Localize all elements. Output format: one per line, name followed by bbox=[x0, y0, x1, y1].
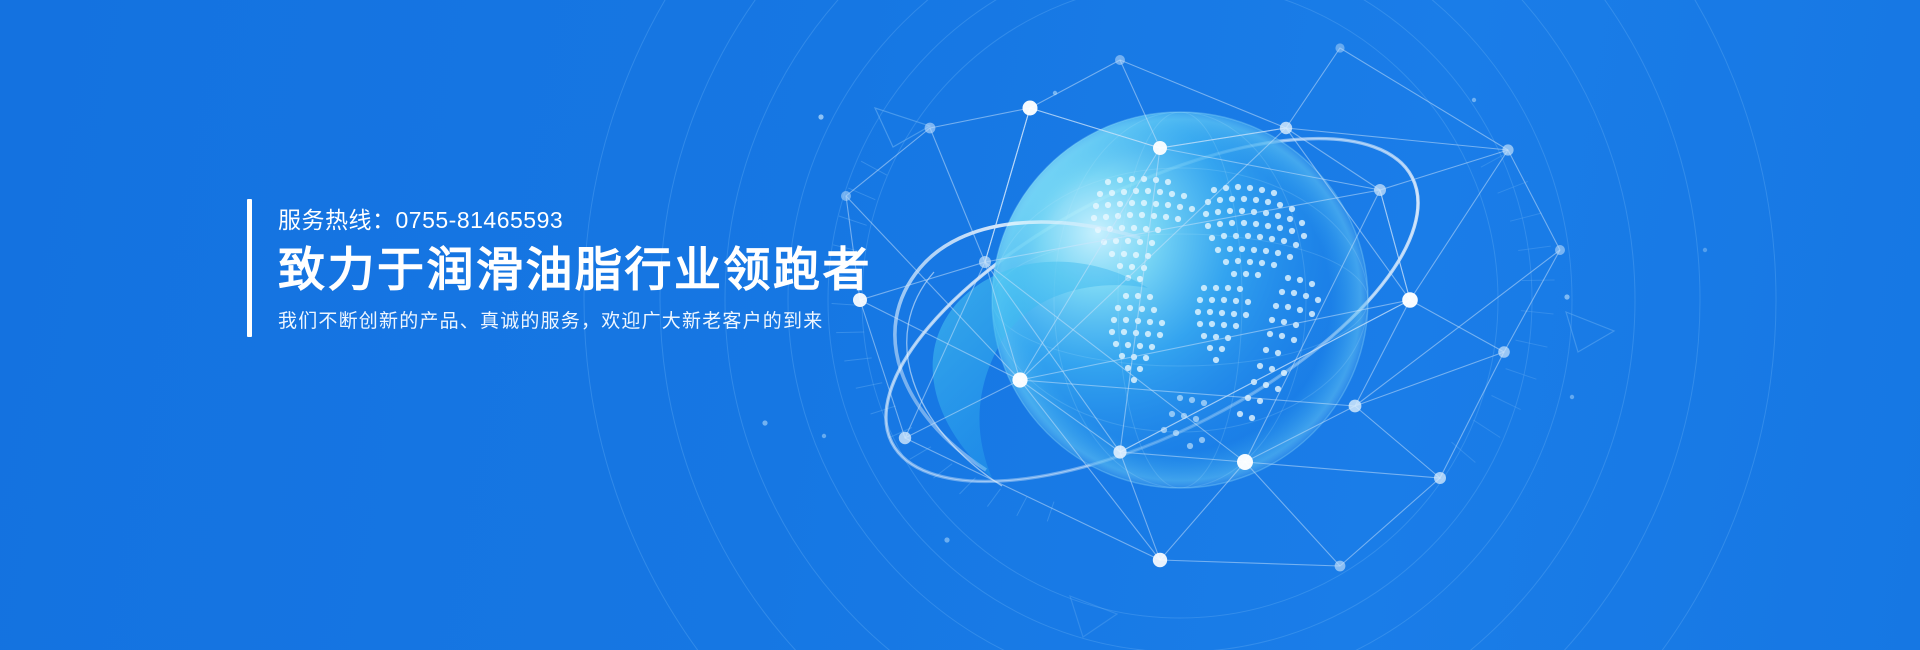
page-title: 致力于润滑油脂行业领跑者 bbox=[278, 239, 872, 301]
service-hotline: 服务热线：0755-81465593 bbox=[278, 203, 872, 237]
hero-banner: 服务热线：0755-81465593 致力于润滑油脂行业领跑者 我们不断创新的产… bbox=[0, 0, 1920, 650]
hero-text-block: 服务热线：0755-81465593 致力于润滑油脂行业领跑者 我们不断创新的产… bbox=[247, 199, 872, 337]
hero-text-column: 服务热线：0755-81465593 致力于润滑油脂行业领跑者 我们不断创新的产… bbox=[252, 199, 872, 337]
page-subtitle: 我们不断创新的产品、真诚的服务，欢迎广大新老客户的到来 bbox=[278, 307, 872, 337]
